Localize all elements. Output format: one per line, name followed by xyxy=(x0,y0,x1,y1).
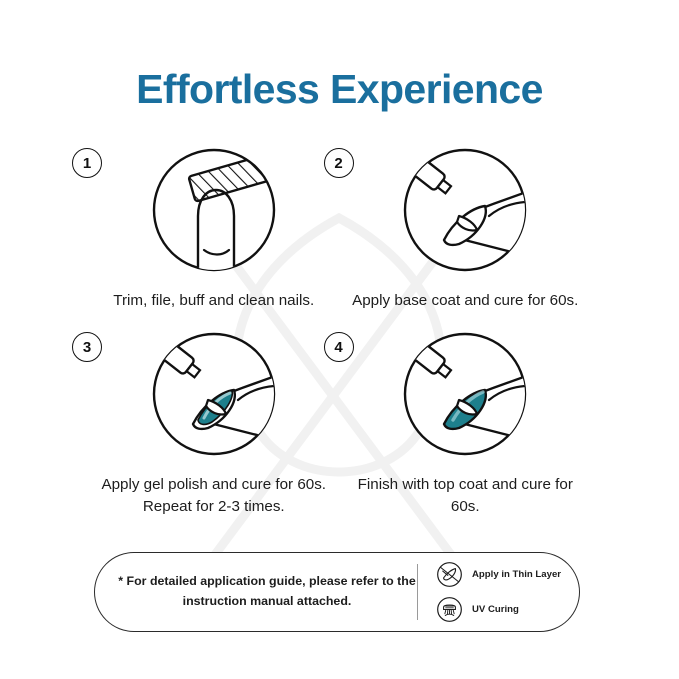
page-title: Effortless Experience xyxy=(0,66,679,113)
step-3-caption: Apply gel polish and cure for 60s. Repea… xyxy=(99,474,329,518)
step-2-illustration xyxy=(397,142,533,278)
uv-curing-label: UV Curing xyxy=(472,604,519,615)
badge-apply-in-thin-layer: Apply in Thin Layer xyxy=(436,561,579,588)
step-1-number: 1 xyxy=(72,148,102,178)
uv-lamp-icon xyxy=(436,596,463,623)
footer-note-text: * For detailed application guide, please… xyxy=(95,572,417,612)
step-3-number: 3 xyxy=(72,332,102,362)
badge-uv-curing: UV Curing xyxy=(436,596,579,623)
step-2: 2 Apply base coat and cure for 60s. xyxy=(340,142,592,312)
footer-badge-list: Apply in Thin Layer UV Curing xyxy=(418,561,579,623)
step-4-caption: Finish with top coat and cure for 60s. xyxy=(350,474,580,518)
step-1: 1 Trim, file, buff and clean nails. xyxy=(88,142,340,312)
thin-layer-icon xyxy=(436,561,463,588)
steps-grid: 1 Trim, file, buff and clean nails. xyxy=(88,142,591,518)
step-2-number: 2 xyxy=(324,148,354,178)
step-1-illustration xyxy=(146,142,282,278)
step-3-illustration xyxy=(146,326,282,462)
step-4: 4 Finish with top coat and cure for 60s. xyxy=(340,326,592,518)
step-4-illustration xyxy=(397,326,533,462)
step-2-caption: Apply base coat and cure for 60s. xyxy=(350,290,580,312)
step-4-number: 4 xyxy=(324,332,354,362)
thin-layer-label: Apply in Thin Layer xyxy=(472,569,561,580)
footer-note-panel: * For detailed application guide, please… xyxy=(94,552,580,632)
step-3: 3 Apply gel polish and cure for 60s. Rep… xyxy=(88,326,340,518)
step-1-caption: Trim, file, buff and clean nails. xyxy=(99,290,329,312)
